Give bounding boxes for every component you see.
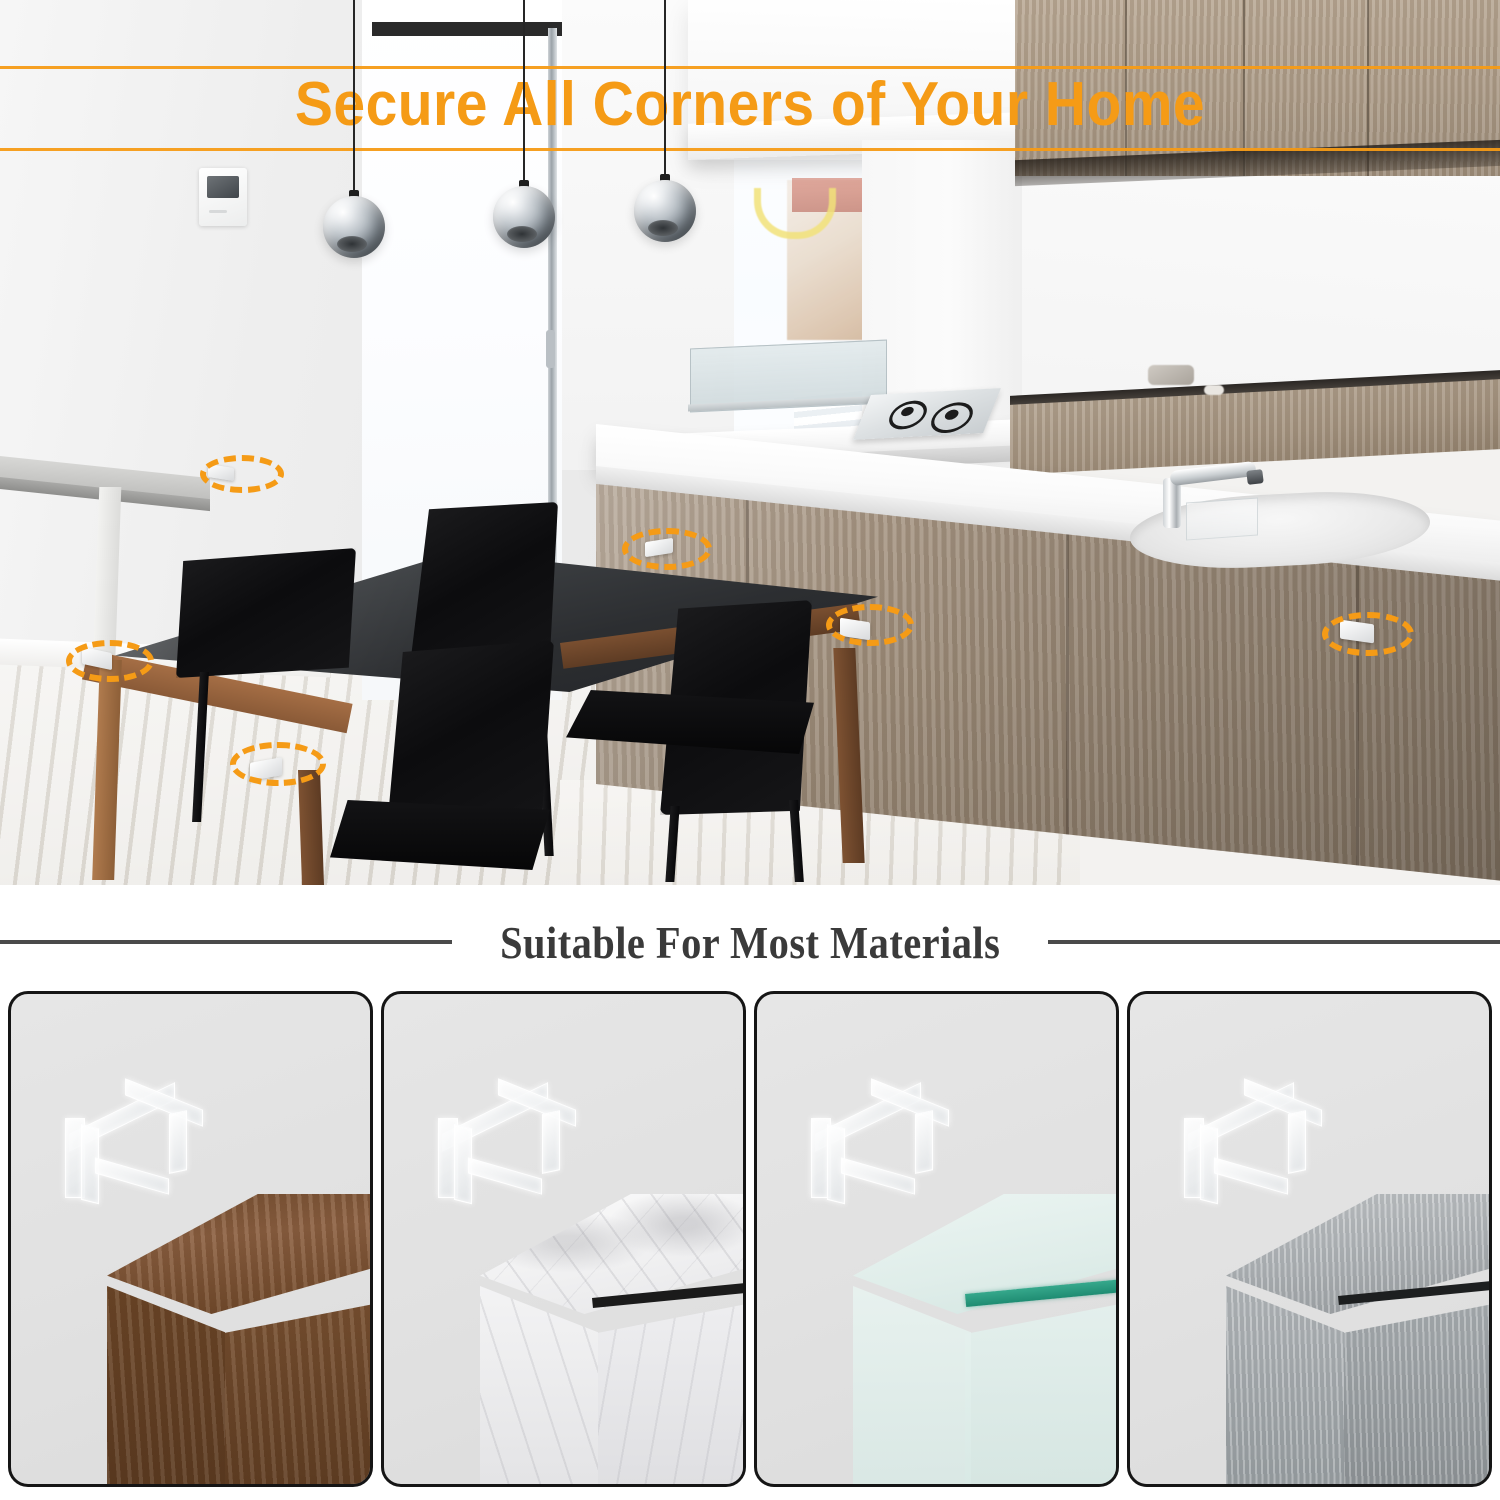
chair-backrest bbox=[176, 548, 356, 678]
door-handle bbox=[546, 330, 555, 368]
island-panel-seam bbox=[1066, 534, 1069, 864]
glass-surface-front bbox=[853, 1286, 971, 1487]
countertop-cloth bbox=[1148, 365, 1194, 385]
gas-cooktop bbox=[853, 388, 1001, 440]
product-marketing-image: Secure All Corners of Your Home Suitable… bbox=[0, 0, 1500, 1500]
hero-headline: Secure All Corners of Your Home bbox=[60, 60, 1440, 150]
highlight-marker-table-corner-right bbox=[826, 604, 914, 646]
wood-surface-top bbox=[107, 1194, 373, 1314]
corner-guard-product bbox=[63, 1072, 193, 1212]
highlight-marker-table-corner-front bbox=[230, 742, 326, 786]
guard-lower-lip bbox=[1214, 1157, 1288, 1194]
highlight-marker-island-corner bbox=[1322, 612, 1414, 656]
corner-guard-product bbox=[436, 1072, 566, 1212]
faucet-spout-head bbox=[1246, 469, 1264, 485]
marble-surface-side bbox=[592, 1298, 746, 1487]
marble-surface-front bbox=[480, 1286, 598, 1487]
faucet-body bbox=[1163, 478, 1181, 528]
section-heading: Suitable For Most Materials bbox=[500, 916, 1000, 969]
section-heading-row: Suitable For Most Materials bbox=[0, 907, 1500, 977]
glass-table-corner bbox=[853, 1194, 1119, 1484]
hero-lifestyle-photo: Secure All Corners of Your Home bbox=[0, 0, 1500, 885]
highlight-marker-console-corner bbox=[200, 455, 284, 493]
faucet-splash-guard bbox=[1186, 497, 1258, 540]
guard-side-leg bbox=[1288, 1110, 1306, 1174]
wall-intercom-panel bbox=[199, 168, 247, 226]
guard-lower-lip bbox=[95, 1157, 169, 1194]
material-panel-glass[interactable] bbox=[754, 991, 1119, 1487]
guard-lower-lip bbox=[841, 1157, 915, 1194]
heading-rule-left bbox=[0, 940, 452, 944]
door-header-beam bbox=[372, 22, 562, 36]
material-panel-steel[interactable] bbox=[1127, 991, 1492, 1487]
wood-table-corner bbox=[107, 1194, 373, 1484]
guard-side-leg bbox=[915, 1110, 933, 1174]
steel-table-corner bbox=[1226, 1194, 1492, 1484]
guard-side-leg bbox=[542, 1110, 560, 1174]
glass-surface-side bbox=[965, 1298, 1119, 1487]
wood-surface-side bbox=[219, 1298, 373, 1487]
materials-section: Suitable For Most Materials bbox=[0, 885, 1500, 1500]
marble-table-corner bbox=[480, 1194, 746, 1484]
table-leg bbox=[298, 770, 324, 885]
highlight-marker-table-corner-back bbox=[622, 528, 712, 570]
guard-side-leg bbox=[169, 1110, 187, 1174]
material-panel-marble[interactable] bbox=[381, 991, 746, 1487]
intercom-screen bbox=[207, 176, 239, 198]
material-panels bbox=[8, 991, 1492, 1487]
guard-lower-lip bbox=[468, 1157, 542, 1194]
heading-rule-right bbox=[1048, 940, 1500, 944]
countertop-item bbox=[1204, 385, 1224, 395]
wood-surface-front bbox=[107, 1286, 225, 1487]
corner-guard-product bbox=[1182, 1072, 1312, 1212]
intercom-button bbox=[209, 210, 227, 213]
steel-surface-front bbox=[1226, 1286, 1344, 1487]
highlight-marker-table-corner-left bbox=[66, 640, 154, 682]
corner-guard-product bbox=[809, 1072, 939, 1212]
material-panel-wood[interactable] bbox=[8, 991, 373, 1487]
steel-surface-side bbox=[1338, 1298, 1492, 1487]
